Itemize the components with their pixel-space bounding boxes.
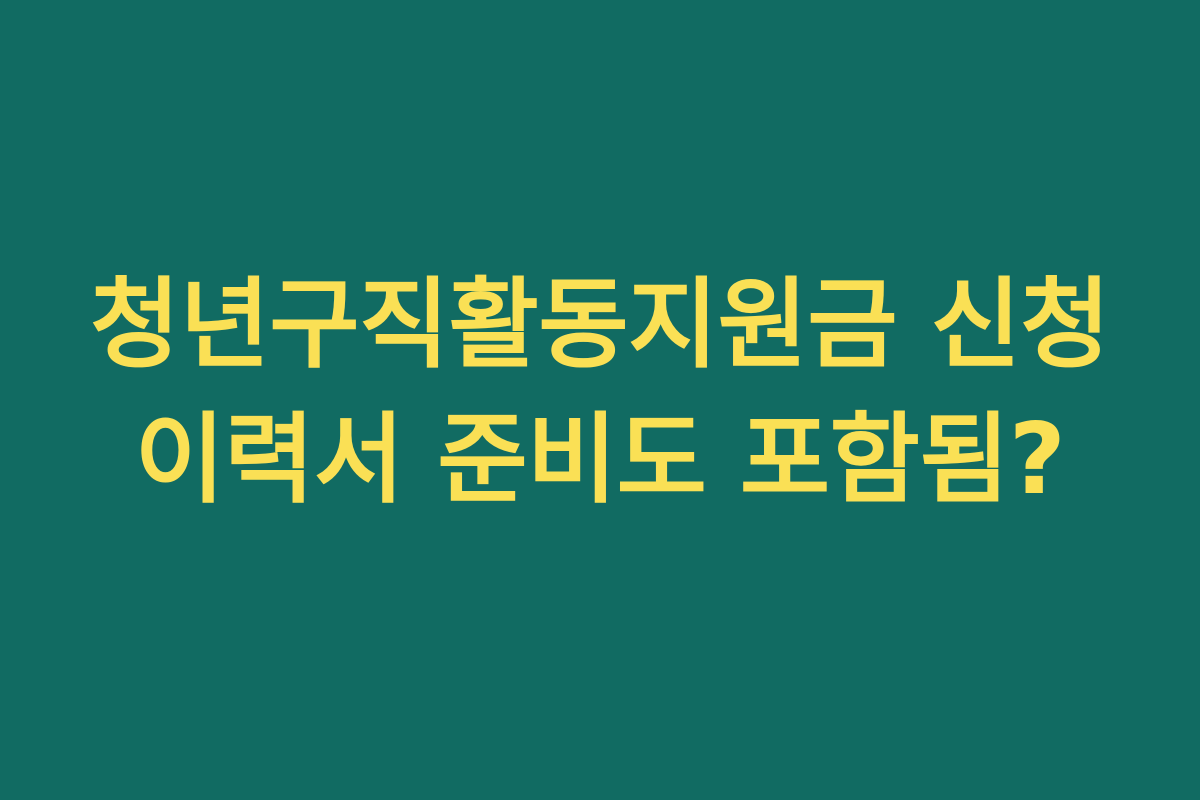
text-card: 청년구직활동지원금 신청 이력서 준비도 포함됨?: [0, 0, 1200, 800]
headline-text: 청년구직활동지원금 신청 이력서 준비도 포함됨?: [85, 258, 1115, 528]
